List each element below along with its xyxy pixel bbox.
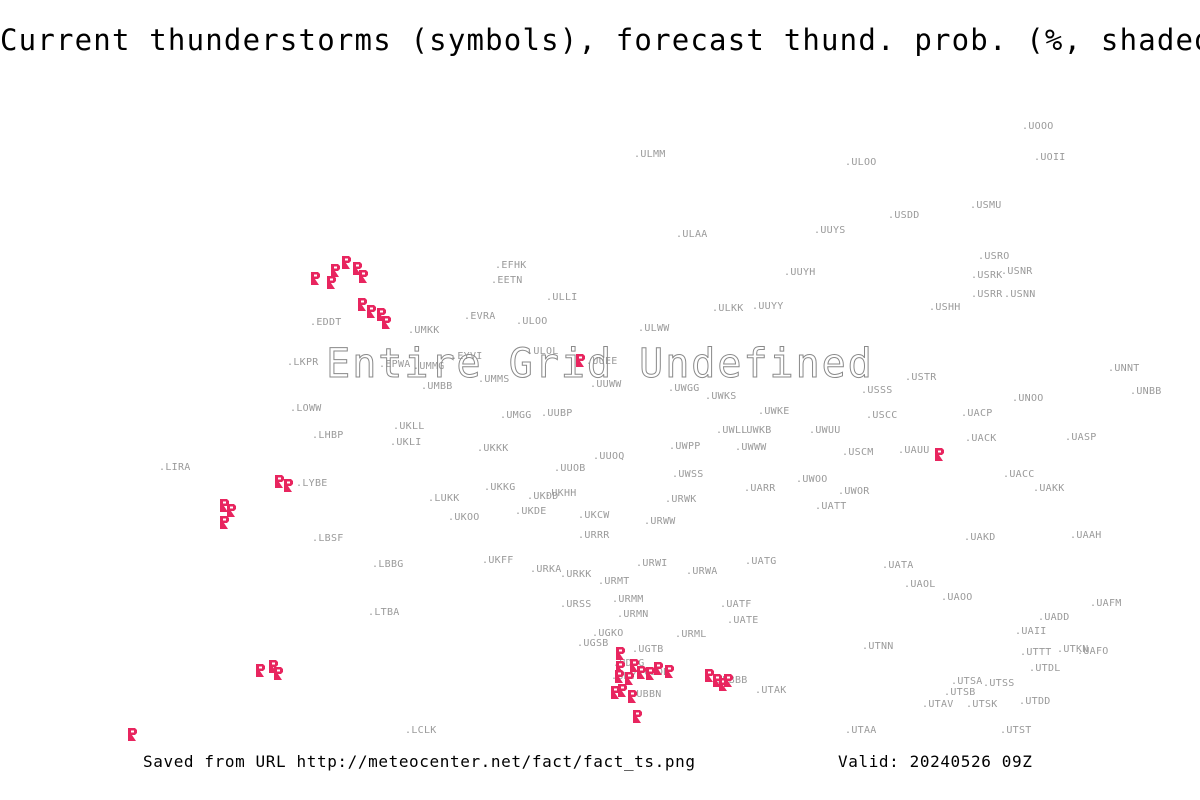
station-label: .UTSB — [944, 688, 976, 698]
station-label: .UGSB — [577, 639, 609, 649]
station-label: .URWI — [636, 559, 668, 569]
station-label: .USHH — [929, 303, 961, 313]
station-label: .UAII — [1015, 627, 1047, 637]
thunderstorm-symbol[interactable] — [127, 726, 141, 742]
station-label: .USDD — [888, 211, 920, 221]
station-label: .UOOO — [1022, 122, 1054, 132]
thunderstorm-symbol[interactable] — [219, 514, 233, 530]
station-label: .UUBP — [541, 409, 573, 419]
footer-valid-time: Valid: 20240526 09Z — [838, 752, 1032, 771]
station-label: .URRR — [578, 531, 610, 541]
station-label: .UATT — [815, 502, 847, 512]
page-title: Current thunderstorms (symbols), forecas… — [0, 26, 1200, 55]
station-label: .UAOO — [941, 593, 973, 603]
station-label: .UNBB — [1130, 387, 1162, 397]
station-label: .EETN — [491, 276, 523, 286]
station-label: .UOII — [1034, 153, 1066, 163]
station-label: .USRO — [978, 252, 1010, 262]
station-label: .UAAH — [1070, 531, 1102, 541]
station-label: .ULLI — [546, 293, 578, 303]
station-label: .UTSS — [983, 679, 1015, 689]
station-label: .UTDD — [1019, 697, 1051, 707]
station-label: .LOWW — [290, 404, 322, 414]
station-label: .UWWW — [735, 443, 767, 453]
station-label: .UAFO — [1077, 647, 1109, 657]
station-label: .LIRA — [159, 463, 191, 473]
station-label: .USNN — [1004, 290, 1036, 300]
station-label: .ULMM — [634, 150, 666, 160]
station-label: .UTSA — [951, 677, 983, 687]
thunderstorm-symbol[interactable] — [273, 665, 287, 681]
station-label: .URML — [675, 630, 707, 640]
station-label: .UUEE — [586, 357, 618, 367]
station-label: .UWPP — [669, 442, 701, 452]
station-label: .URKK — [560, 570, 592, 580]
station-label: .URWK — [665, 495, 697, 505]
station-label: .USRK — [971, 271, 1003, 281]
station-label: .UKOO — [448, 513, 480, 523]
station-label: .UMGG — [500, 411, 532, 421]
station-label: .URMN — [617, 610, 649, 620]
station-label: .UAOL — [904, 580, 936, 590]
thunderstorm-symbol[interactable] — [632, 708, 646, 724]
station-label: .UACP — [961, 409, 993, 419]
station-label: .UMKK — [408, 326, 440, 336]
thunderstorm-symbol[interactable] — [255, 662, 269, 678]
station-label: .URKA — [530, 565, 562, 575]
station-label: .UUYH — [784, 268, 816, 278]
station-label: .UAUU — [898, 446, 930, 456]
station-label: .ULOO — [516, 317, 548, 327]
station-label: .UTDL — [1029, 664, 1061, 674]
station-label: .UAKD — [964, 533, 996, 543]
station-label: .UAFM — [1090, 599, 1122, 609]
station-label: .URWA — [686, 567, 718, 577]
station-label: .UKLL — [393, 422, 425, 432]
station-label: .LYBE — [296, 479, 328, 489]
station-label: .UWKE — [758, 407, 790, 417]
station-label: .UACK — [965, 434, 997, 444]
station-label: .LBSF — [312, 534, 344, 544]
station-label: .UWOR — [838, 487, 870, 497]
station-label: .USSS — [861, 386, 893, 396]
station-label: .UARR — [744, 484, 776, 494]
station-label: .ULWW — [638, 324, 670, 334]
station-label: .UNOO — [1012, 394, 1044, 404]
station-label: .UKCW — [578, 511, 610, 521]
station-label: .UWUU — [809, 426, 841, 436]
station-label: .ULOO — [845, 158, 877, 168]
footer: Saved from URL http://meteocenter.net/fa… — [0, 752, 1200, 784]
station-label: .UTNN — [862, 642, 894, 652]
thunderstorm-symbol[interactable] — [310, 270, 324, 286]
station-label: .USNR — [1001, 267, 1033, 277]
station-label: .UMBB — [421, 382, 453, 392]
thunderstorm-map-screen: Current thunderstorms (symbols), forecas… — [0, 0, 1200, 800]
station-label: .USCM — [842, 448, 874, 458]
station-label: .UKLI — [390, 438, 422, 448]
thunderstorm-symbol[interactable] — [326, 274, 340, 290]
station-label: .URWW — [644, 517, 676, 527]
station-label: .UTAK — [755, 686, 787, 696]
station-label: .UUYY — [752, 302, 784, 312]
thunderstorm-symbol[interactable] — [664, 663, 678, 679]
station-label: .UKFF — [482, 556, 514, 566]
station-label: .ULKK — [712, 304, 744, 314]
station-label: .URMM — [612, 595, 644, 605]
footer-source-url: Saved from URL http://meteocenter.net/fa… — [143, 752, 696, 771]
station-label: .USTR — [905, 373, 937, 383]
station-label: .LTBA — [368, 608, 400, 618]
station-label: .UKKG — [484, 483, 516, 493]
station-label: .UKHH — [545, 489, 577, 499]
thunderstorm-symbol[interactable] — [723, 672, 737, 688]
station-label: .UWOO — [796, 475, 828, 485]
station-label: .LKPR — [287, 358, 319, 368]
thunderstorm-symbol[interactable] — [934, 446, 948, 462]
station-label: .UUWW — [590, 380, 622, 390]
station-label: .UWGG — [668, 384, 700, 394]
station-label: .LCLK — [405, 726, 437, 736]
station-label: .UKKK — [477, 444, 509, 454]
station-label: .UMMS — [478, 375, 510, 385]
station-label: .UATF — [720, 600, 752, 610]
station-label: .UATE — [727, 616, 759, 626]
station-label: .UWKB — [740, 426, 772, 436]
station-label: .EFHK — [495, 261, 527, 271]
station-label: .ULAA — [676, 230, 708, 240]
station-label: .LHBP — [312, 431, 344, 441]
station-label: .EDDT — [310, 318, 342, 328]
station-label: .UMMG — [413, 362, 445, 372]
station-label: .URSS — [560, 600, 592, 610]
station-label: .UATA — [882, 561, 914, 571]
station-label: .UACC — [1003, 470, 1035, 480]
station-label: .UWKS — [705, 392, 737, 402]
station-label: .EYVI — [451, 352, 483, 362]
station-label: .UTSK — [966, 700, 998, 710]
thunderstorm-symbol[interactable] — [575, 352, 589, 368]
station-label: .LUKK — [428, 494, 460, 504]
station-label: .EPWA — [379, 360, 411, 370]
station-label: .URMT — [598, 577, 630, 587]
station-label: .LBBG — [372, 560, 404, 570]
station-label: .UGTB — [632, 645, 664, 655]
station-label: .UTTT — [1020, 648, 1052, 658]
station-label: .UADD — [1038, 613, 1070, 623]
station-label: .ULOL — [527, 347, 559, 357]
thunderstorm-symbol[interactable] — [627, 688, 641, 704]
station-label: .USRR — [971, 290, 1003, 300]
station-label: .USCC — [866, 411, 898, 421]
station-label: .UWSS — [672, 470, 704, 480]
station-label: .USMU — [970, 201, 1002, 211]
station-label: .UUOQ — [593, 452, 625, 462]
station-label: .UAKK — [1033, 484, 1065, 494]
map-canvas[interactable]: .UOOO.ULMM.ULOO.UOII.USDD.USMU.ULAA.UUYS… — [0, 72, 1200, 744]
station-label: .UKDE — [515, 507, 547, 517]
thunderstorm-symbol[interactable] — [381, 314, 395, 330]
station-label: .UTAA — [845, 726, 877, 736]
station-label: .UNNT — [1108, 364, 1140, 374]
thunderstorm-symbol[interactable] — [283, 477, 297, 493]
station-label: .UTAV — [922, 700, 954, 710]
station-label: .UUYS — [814, 226, 846, 236]
station-label: .UTST — [1000, 726, 1032, 736]
station-label: .UATG — [745, 557, 777, 567]
thunderstorm-symbol[interactable] — [358, 268, 372, 284]
station-label: .UASP — [1065, 433, 1097, 443]
station-label: .EVRA — [464, 312, 496, 322]
station-label: .UUOB — [554, 464, 586, 474]
